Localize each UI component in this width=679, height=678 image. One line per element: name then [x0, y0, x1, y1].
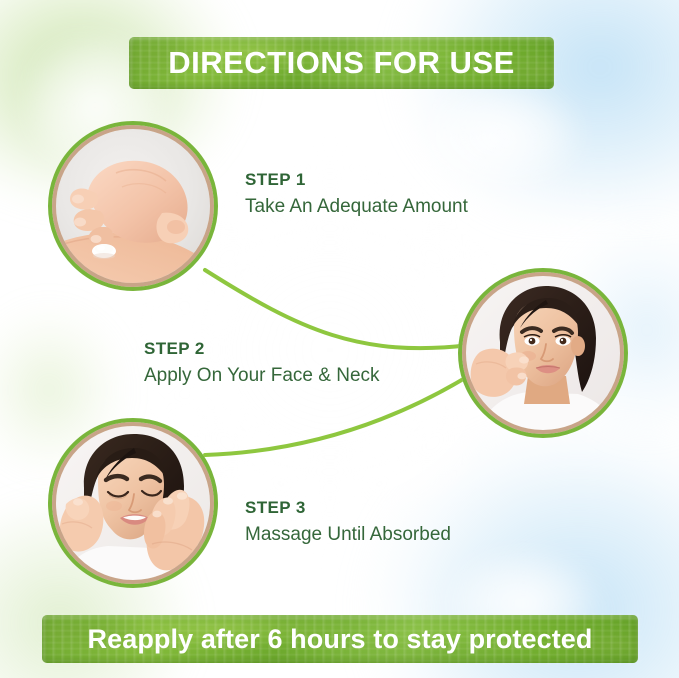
- step-1-image-circle: [48, 121, 218, 291]
- step-1-description: Take An Adequate Amount: [245, 196, 468, 218]
- step-3-outer-ring: [48, 418, 218, 588]
- step-2-label: STEP 2: [144, 339, 380, 359]
- step-3-label: STEP 3: [245, 498, 451, 518]
- step-3-description: Massage Until Absorbed: [245, 524, 451, 546]
- step-2-image-circle: [458, 268, 628, 438]
- banner-title-text: DIRECTIONS FOR USE: [168, 45, 515, 81]
- reapply-note-banner: Reapply after 6 hours to stay protected: [42, 615, 638, 663]
- directions-for-use-infographic: STEP 1 Take An Adequate Amount STEP 2 Ap…: [0, 0, 679, 678]
- banner-note-text: Reapply after 6 hours to stay protected: [87, 624, 592, 655]
- step-2-text-block: STEP 2 Apply On Your Face & Neck: [144, 339, 380, 387]
- step-2-outer-ring: [458, 268, 628, 438]
- step-3-text-block: STEP 3 Massage Until Absorbed: [245, 498, 451, 546]
- step-3-image-circle: [48, 418, 218, 588]
- step-1-label: STEP 1: [245, 170, 468, 190]
- connector-step1-to-step2: [205, 270, 470, 348]
- step-2-description: Apply On Your Face & Neck: [144, 365, 380, 387]
- connector-step2-to-step3: [205, 375, 470, 455]
- step-1-outer-ring: [48, 121, 218, 291]
- step-1-text-block: STEP 1 Take An Adequate Amount: [245, 170, 468, 218]
- directions-for-use-banner: DIRECTIONS FOR USE: [129, 37, 554, 89]
